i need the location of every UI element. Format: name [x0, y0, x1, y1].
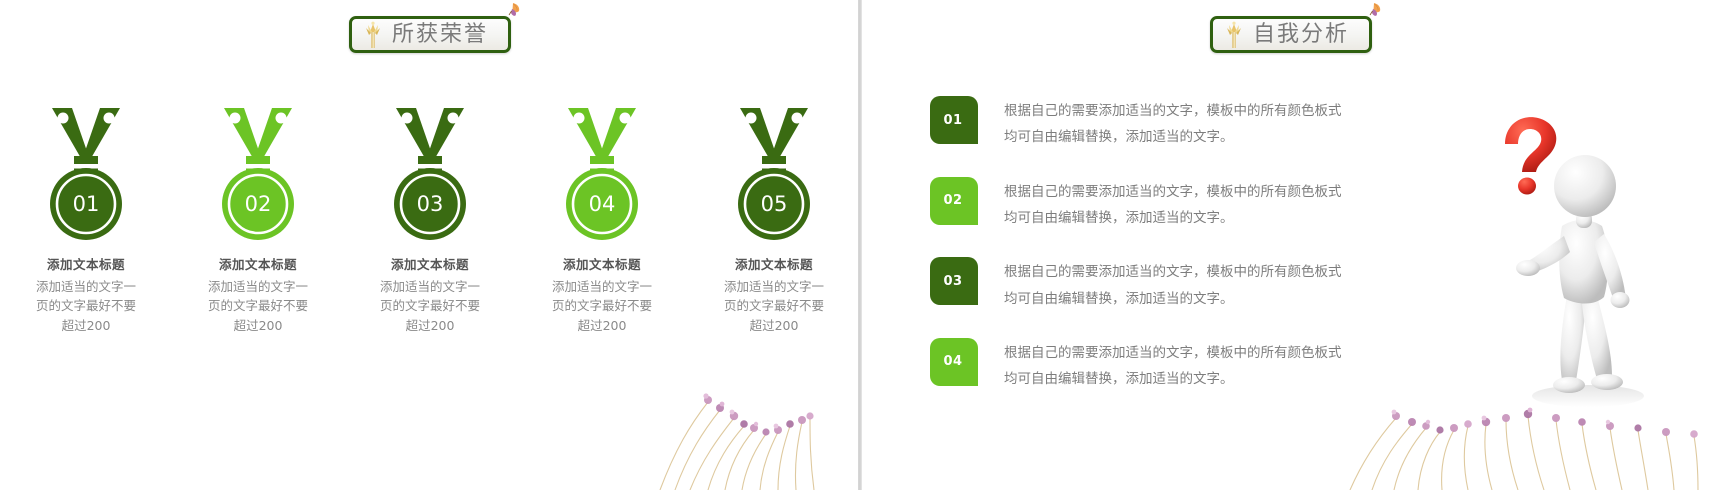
number-badge-01: 01 — [930, 96, 978, 144]
medal-body: 添加适当的文字一 页的文字最好不要 超过200 — [380, 277, 480, 335]
medal-body: 添加适当的文字一 页的文字最好不要 超过200 — [208, 277, 308, 335]
medal-icon-02: 02 — [210, 98, 306, 248]
svg-text:03: 03 — [417, 192, 444, 216]
analysis-line: 均可自由编辑替换，添加适当的文字。 — [1004, 124, 1342, 150]
medal-item[interactable]: 05 添加文本标题 添加适当的文字一 页的文字最好不要 超过200 — [688, 98, 860, 335]
medal-body-line: 添加适当的文字一 — [552, 277, 652, 296]
right-slide: 自我分析 01 根据自己的需要添加适当的文字，模板中的所有颜色板式 — [862, 0, 1720, 490]
left-title-wrap: 所获荣誉 — [0, 16, 860, 53]
medals-row: 01 添加文本标题 添加适当的文字一 页的文字最好不要 超过200 — [0, 98, 860, 335]
medal-body-line: 超过200 — [208, 316, 308, 335]
medal-icon-05: 05 — [726, 98, 822, 248]
analysis-item[interactable]: 03 根据自己的需要添加适当的文字，模板中的所有颜色板式 均可自由编辑替换，添加… — [930, 257, 1350, 312]
analysis-item-text: 根据自己的需要添加适当的文字，模板中的所有颜色板式 均可自由编辑替换，添加适当的… — [1004, 177, 1342, 232]
medal-body-line: 页的文字最好不要 — [724, 296, 824, 315]
analysis-line: 均可自由编辑替换，添加适当的文字。 — [1004, 205, 1342, 231]
svg-text:04: 04 — [589, 192, 616, 216]
dried-flowers-decoration — [620, 330, 860, 490]
torch-icon — [1221, 20, 1247, 50]
right-title-text: 自我分析 — [1253, 24, 1349, 46]
medal-body-line: 页的文字最好不要 — [36, 296, 136, 315]
analysis-item-text: 根据自己的需要添加适当的文字，模板中的所有颜色板式 均可自由编辑替换，添加适当的… — [1004, 96, 1342, 151]
medal-body-line: 超过200 — [36, 316, 136, 335]
analysis-item[interactable]: 04 根据自己的需要添加适当的文字，模板中的所有颜色板式 均可自由编辑替换，添加… — [930, 338, 1350, 393]
number-badge-03: 03 — [930, 257, 978, 305]
left-title-text: 所获荣誉 — [392, 24, 488, 46]
medal-body-line: 添加适当的文字一 — [208, 277, 308, 296]
right-title-wrap: 自我分析 — [862, 16, 1720, 53]
medal-body-line: 超过200 — [552, 316, 652, 335]
svg-text:01: 01 — [73, 192, 100, 216]
badge-number: 03 — [930, 257, 978, 305]
medal-body-line: 添加适当的文字一 — [380, 277, 480, 296]
medal-item[interactable]: 02 添加文本标题 添加适当的文字一 页的文字最好不要 超过200 — [172, 98, 344, 335]
medal-title: 添加文本标题 — [735, 254, 813, 273]
analysis-line: 均可自由编辑替换，添加适当的文字。 — [1004, 286, 1342, 312]
analysis-item[interactable]: 01 根据自己的需要添加适当的文字，模板中的所有颜色板式 均可自由编辑替换，添加… — [930, 96, 1350, 151]
svg-text:05: 05 — [761, 192, 788, 216]
medal-body-line: 页的文字最好不要 — [552, 296, 652, 315]
analysis-item-text: 根据自己的需要添加适当的文字，模板中的所有颜色板式 均可自由编辑替换，添加适当的… — [1004, 338, 1342, 393]
number-badge-04: 04 — [930, 338, 978, 386]
butterfly-icon — [496, 0, 522, 26]
medal-body-line: 添加适当的文字一 — [36, 277, 136, 296]
analysis-list: 01 根据自己的需要添加适当的文字，模板中的所有颜色板式 均可自由编辑替换，添加… — [930, 96, 1350, 419]
medal-body: 添加适当的文字一 页的文字最好不要 超过200 — [36, 277, 136, 335]
medal-body-line: 超过200 — [724, 316, 824, 335]
medal-body-line: 超过200 — [380, 316, 480, 335]
left-slide: 所获荣誉 — [0, 0, 860, 490]
medal-body: 添加适当的文字一 页的文字最好不要 超过200 — [552, 277, 652, 335]
svg-text:02: 02 — [245, 192, 272, 216]
medal-item[interactable]: 01 添加文本标题 添加适当的文字一 页的文字最好不要 超过200 — [0, 98, 172, 335]
analysis-line: 根据自己的需要添加适当的文字，模板中的所有颜色板式 — [1004, 259, 1342, 285]
analysis-item-text: 根据自己的需要添加适当的文字，模板中的所有颜色板式 均可自由编辑替换，添加适当的… — [1004, 257, 1342, 312]
left-title-box[interactable]: 所获荣誉 — [349, 16, 511, 53]
analysis-item[interactable]: 02 根据自己的需要添加适当的文字，模板中的所有颜色板式 均可自由编辑替换，添加… — [930, 177, 1350, 232]
medal-title: 添加文本标题 — [219, 254, 297, 273]
medal-body: 添加适当的文字一 页的文字最好不要 超过200 — [724, 277, 824, 335]
medal-item[interactable]: 04 添加文本标题 添加适当的文字一 页的文字最好不要 超过200 — [516, 98, 688, 335]
medal-body-line: 页的文字最好不要 — [208, 296, 308, 315]
analysis-line: 根据自己的需要添加适当的文字，模板中的所有颜色板式 — [1004, 340, 1342, 366]
analysis-line: 根据自己的需要添加适当的文字，模板中的所有颜色板式 — [1004, 179, 1342, 205]
medal-body-line: 添加适当的文字一 — [724, 277, 824, 296]
medal-title: 添加文本标题 — [47, 254, 125, 273]
medal-icon-04: 04 — [554, 98, 650, 248]
medal-title: 添加文本标题 — [391, 254, 469, 273]
medal-icon-03: 03 — [382, 98, 478, 248]
slide-divider — [858, 0, 862, 490]
right-title-box[interactable]: 自我分析 — [1210, 16, 1372, 53]
analysis-line: 均可自由编辑替换，添加适当的文字。 — [1004, 366, 1342, 392]
butterfly-icon — [1357, 0, 1383, 26]
medal-title: 添加文本标题 — [563, 254, 641, 273]
badge-number: 01 — [930, 96, 978, 144]
medal-item[interactable]: 03 添加文本标题 添加适当的文字一 页的文字最好不要 超过200 — [344, 98, 516, 335]
analysis-line: 根据自己的需要添加适当的文字，模板中的所有颜色板式 — [1004, 98, 1342, 124]
medal-body-line: 页的文字最好不要 — [380, 296, 480, 315]
badge-number: 02 — [930, 177, 978, 225]
3d-person-with-question-mark-icon — [1470, 108, 1680, 408]
torch-icon — [360, 20, 386, 50]
badge-number: 04 — [930, 338, 978, 386]
medal-icon-01: 01 — [38, 98, 134, 248]
number-badge-02: 02 — [930, 177, 978, 225]
